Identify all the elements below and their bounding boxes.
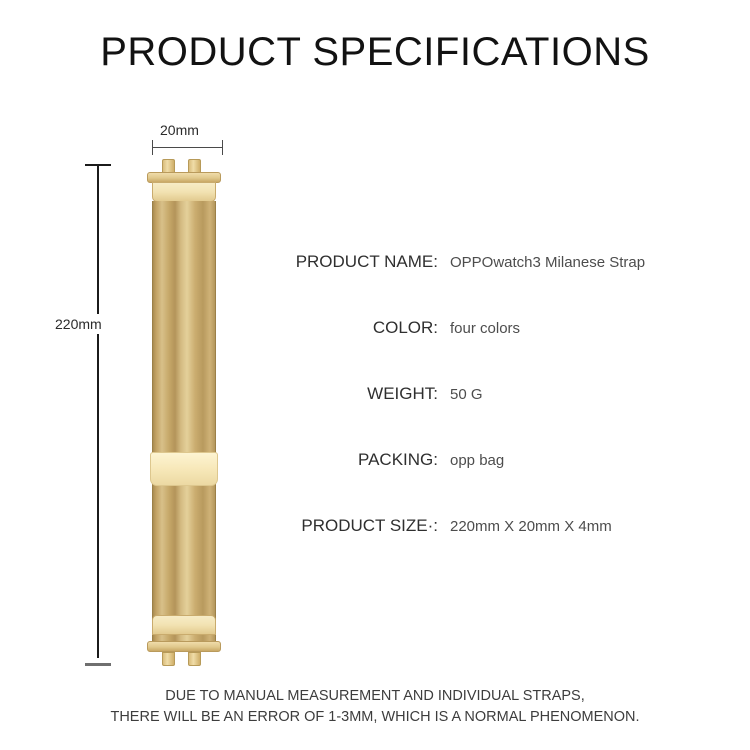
- strap-lug-bottom-left: [162, 652, 175, 666]
- spec-label: COLOR:: [262, 318, 438, 338]
- spec-row-packing: PACKING: opp bag: [262, 450, 692, 516]
- strap-milanese-mesh: [152, 201, 216, 643]
- spec-row-product-name: PRODUCT NAME: OPPOwatch3 Milanese Strap: [262, 252, 692, 318]
- spec-value: opp bag: [438, 452, 692, 469]
- strap-lug-top-left: [162, 159, 175, 173]
- strap-magnetic-clasp: [150, 452, 218, 486]
- width-dimension-line: [153, 147, 222, 148]
- spec-label: WEIGHT:: [262, 384, 438, 404]
- spec-label: PRODUCT NAME:: [262, 252, 438, 272]
- disclaimer-line-2: THERE WILL BE AN ERROR OF 1-3MM, WHICH I…: [0, 707, 750, 728]
- strap-end-cap-top: [152, 182, 216, 202]
- spec-label: PRODUCT SIZE·:: [262, 516, 438, 536]
- strap-end-bar-bottom: [147, 641, 221, 652]
- spec-value: 220mm X 20mm X 4mm: [438, 518, 692, 535]
- height-dimension-label: 220mm: [52, 314, 105, 334]
- watch-strap-image: [143, 155, 233, 670]
- page-title: PRODUCT SPECIFICATIONS: [0, 30, 750, 75]
- spec-row-weight: WEIGHT: 50 G: [262, 384, 692, 450]
- disclaimer-line-1: DUE TO MANUAL MEASUREMENT AND INDIVIDUAL…: [0, 686, 750, 707]
- height-dimension-bottom-tick: [85, 663, 111, 666]
- measurement-disclaimer: DUE TO MANUAL MEASUREMENT AND INDIVIDUAL…: [0, 686, 750, 728]
- strap-lug-bottom-right: [188, 652, 201, 666]
- strap-end-cap-bottom: [152, 615, 216, 635]
- specification-list: PRODUCT NAME: OPPOwatch3 Milanese Strap …: [262, 252, 692, 582]
- strap-lug-top-right: [188, 159, 201, 173]
- width-dimension-label: 20mm: [160, 122, 199, 138]
- spec-label: PACKING:: [262, 450, 438, 470]
- spec-value: OPPOwatch3 Milanese Strap: [438, 254, 692, 271]
- spec-value: 50 G: [438, 386, 692, 403]
- product-specifications-page: PRODUCT SPECIFICATIONS 220mm 20mm PRODUC…: [0, 0, 750, 750]
- spec-row-product-size: PRODUCT SIZE·: 220mm X 20mm X 4mm: [262, 516, 692, 582]
- width-dimension-right-tick: [222, 140, 223, 155]
- spec-value: four colors: [438, 320, 692, 337]
- height-dimension-line: [97, 166, 99, 658]
- spec-row-color: COLOR: four colors: [262, 318, 692, 384]
